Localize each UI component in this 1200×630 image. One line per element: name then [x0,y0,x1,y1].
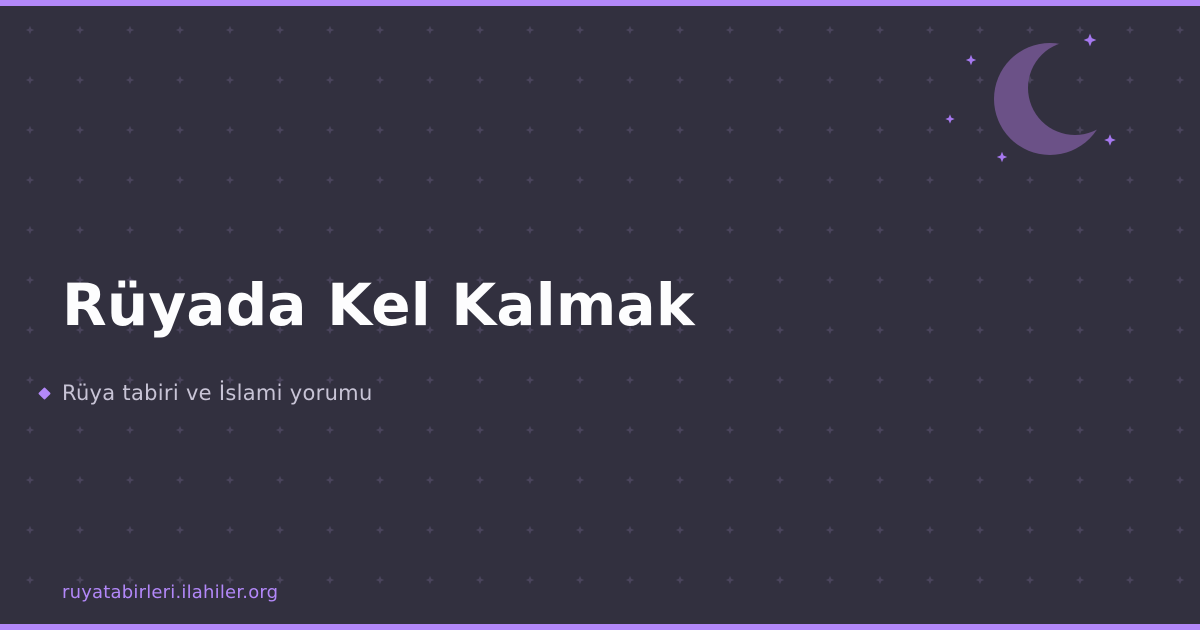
crescent-moon-icon [940,0,1200,200]
background-dot [1176,226,1184,234]
background-dot [1176,276,1184,284]
background-dot [1076,326,1084,334]
background-dot [26,376,34,384]
bottom-accent-bar [0,624,1200,630]
background-dot [1126,526,1134,534]
background-dot [1126,476,1134,484]
background-dot [976,376,984,384]
background-dot [1126,576,1134,584]
background-dot [26,526,34,534]
background-dot [976,426,984,434]
background-dot [1076,376,1084,384]
background-dot [976,476,984,484]
background-dot [1026,476,1034,484]
background-dot [1076,276,1084,284]
background-dot [1176,526,1184,534]
background-dot [26,476,34,484]
background-dot [1126,226,1134,234]
background-dot [1076,476,1084,484]
background-dot [1176,376,1184,384]
background-dot [1026,576,1034,584]
content-block: Rüyada Kel Kalmak Rüya tabiri ve İslami … [62,0,962,630]
subtitle-text: Rüya tabiri ve İslami yorumu [62,379,373,407]
background-dot [976,226,984,234]
background-dot [26,326,34,334]
background-dot [1176,576,1184,584]
background-dot [1076,226,1084,234]
background-dot [976,276,984,284]
background-dot [1026,226,1034,234]
background-dot [26,226,34,234]
share-card: Rüyada Kel Kalmak Rüya tabiri ve İslami … [0,0,1200,630]
background-dot [26,126,34,134]
background-dot [1176,476,1184,484]
background-dot [976,326,984,334]
background-dot [1176,426,1184,434]
background-dot [976,576,984,584]
background-dot [1026,526,1034,534]
top-accent-bar [0,0,1200,6]
moon-body [940,0,1200,200]
page-title: Rüyada Kel Kalmak [62,272,695,338]
background-dot [26,276,34,284]
subtitle-row: Rüya tabiri ve İslami yorumu [40,379,373,407]
background-dot [1126,376,1134,384]
background-dot [26,426,34,434]
background-dot [26,76,34,84]
diamond-bullet-icon [38,387,51,400]
background-dot [976,526,984,534]
background-dot [26,176,34,184]
site-url: ruyatabirleri.ilahiler.org [62,581,278,605]
background-dot [1076,576,1084,584]
background-dot [26,26,34,34]
background-dot [1176,326,1184,334]
background-dot [1026,326,1034,334]
background-dot [1126,326,1134,334]
background-dot [1126,426,1134,434]
background-dot [1126,276,1134,284]
background-dot [1026,426,1034,434]
background-dot [1026,376,1034,384]
background-dot [1026,276,1034,284]
background-dot [26,576,34,584]
background-dot [1076,526,1084,534]
background-dot [1076,426,1084,434]
